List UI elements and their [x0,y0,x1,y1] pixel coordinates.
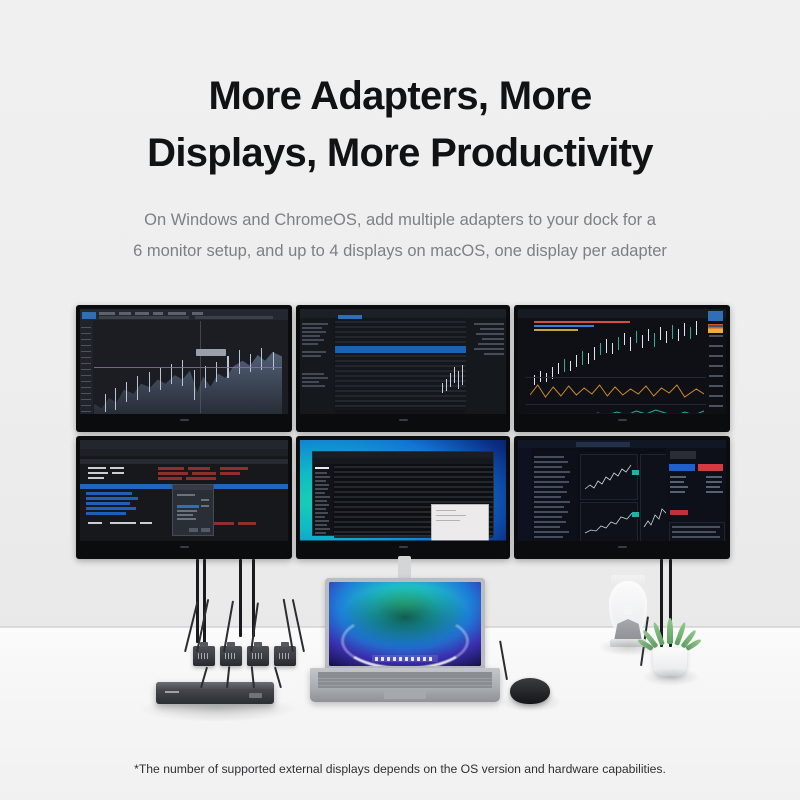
laptop-trackpad[interactable] [384,690,426,699]
modal-titlebar [173,485,213,490]
file-manager-window[interactable] [312,451,494,536]
buy-button[interactable] [669,464,695,471]
taskbar-icon[interactable] [375,657,378,661]
monitor-bottom-center [296,436,510,559]
hourglass [609,575,647,647]
taskbar-icon[interactable] [399,657,402,661]
price-tag-teal [632,512,639,517]
monitor-bottom-left [76,436,292,559]
monitor-top-right [514,305,730,432]
chart-panel-lower-left [580,502,638,542]
page-subtitle: On Windows and ChromeOS, add multiple ad… [38,205,762,266]
modal-selected-item[interactable] [177,505,199,508]
screen-top-left [80,309,288,423]
modal-dialog[interactable] [172,484,214,536]
headline-line-1: More Adapters, More [40,68,760,125]
app-trading-terminal [300,309,506,423]
chart-panel-upper-left [580,454,638,500]
product-marketing-image: More Adapters, More Displays, More Produ… [0,0,800,800]
watchlist[interactable] [533,449,577,550]
laptop-keyboard[interactable] [318,672,492,688]
app-market-area-chart [80,309,288,423]
screen-top-right [518,309,726,423]
dock-port [249,693,262,698]
modal-cancel-button[interactable] [201,528,210,532]
laptop-base [310,668,500,702]
monitor-stand-pole [239,559,242,637]
laptop-lid [325,578,485,670]
sell-button[interactable] [698,464,723,471]
screen-bottom-right [518,440,726,550]
screen-bottom-left [80,440,288,550]
modal-ok-button[interactable] [189,528,198,532]
taskbar-icon[interactable] [417,657,420,661]
sidebar-selected-item[interactable] [315,467,329,469]
app-file-manager-desktop [300,440,506,550]
monitor-bottom-right [514,436,730,559]
monitor-top-center [296,305,510,432]
price-tag-teal [632,470,639,475]
subhead-line-1: On Windows and ChromeOS, add multiple ad… [38,205,762,236]
app-data-grid-dialog [80,440,288,550]
taskbar-icon[interactable] [423,657,426,661]
taskbar-icon[interactable] [429,657,432,661]
alert-button[interactable] [670,510,688,515]
monitor-stand-pole [203,559,206,643]
active-tab[interactable] [576,442,630,447]
selected-row [335,346,466,353]
plant-shadow [642,668,700,686]
subhead-line-2: 6 monitor setup, and up to 4 displays on… [38,236,762,267]
order-panel[interactable] [666,448,726,550]
taskbar-icon[interactable] [381,657,384,661]
taskbar-icon[interactable] [411,657,414,661]
app-candlestick-chart [518,309,726,423]
screen-bottom-center [300,440,506,550]
price-series [94,342,282,414]
monitor-top-left [76,305,292,432]
dock-brand-mark [165,691,179,693]
page-title: More Adapters, More Displays, More Produ… [40,68,760,182]
screen-top-center [300,309,506,423]
footnote: *The number of supported external displa… [40,762,760,776]
docking-station [156,682,274,704]
app-trading-dashboard [518,440,726,550]
mouse [510,678,550,704]
window-sidebar[interactable] [313,464,333,535]
brand-logo-icon [708,311,723,321]
headline-line-2: Displays, More Productivity [40,125,760,182]
taskbar-icon[interactable] [405,657,408,661]
hourglass-shadow [598,638,660,656]
laptop-screen [329,582,481,666]
chart-tooltip [196,349,226,356]
taskbar-icon[interactable] [393,657,396,661]
taskbar-icon[interactable] [387,657,390,661]
app-logo-icon [82,312,96,319]
indicator-pane-oscillator [530,379,704,403]
